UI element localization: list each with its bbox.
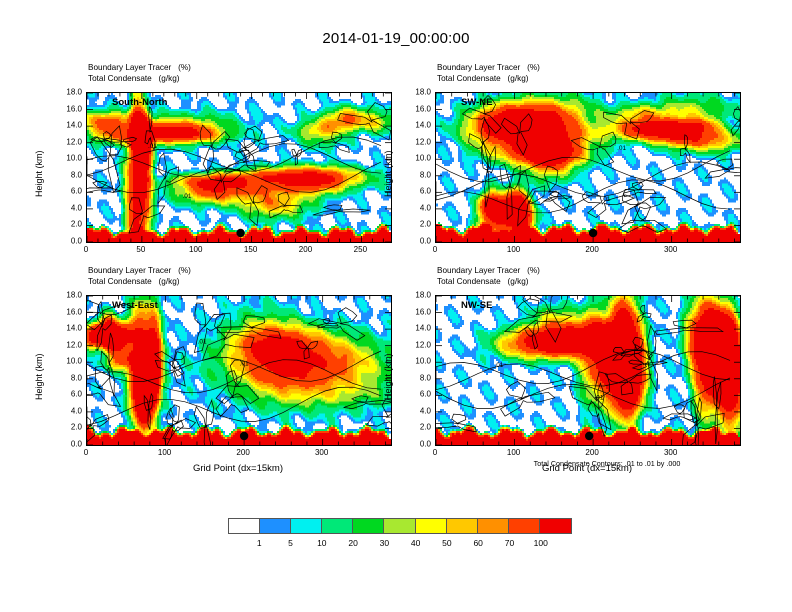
x-tick-label: 100 <box>507 245 520 254</box>
y-tick-label: 6.0 <box>401 390 431 399</box>
colorbar-cell <box>322 519 353 533</box>
panel-label-west-east: West-East <box>112 300 158 311</box>
y-tick-label: 8.0 <box>401 170 431 179</box>
plot-area-west-east[interactable]: .01.01 <box>86 295 392 446</box>
colorbar-tick-label: 50 <box>442 538 451 548</box>
colorbar-tick-label: 100 <box>534 538 548 548</box>
panel-label-south-north: South-North <box>112 97 167 108</box>
y-tick-label: 14.0 <box>52 324 82 333</box>
plot-area-south-north[interactable]: .01.01 <box>86 92 392 243</box>
colorbar-tick-label: 20 <box>348 538 357 548</box>
y-tick-label: 4.0 <box>52 203 82 212</box>
colorbar-cell <box>478 519 509 533</box>
page-title: 2014-01-19_00:00:00 <box>0 30 792 47</box>
y-tick-label: 2.0 <box>401 423 431 432</box>
x-tick-label: 200 <box>299 245 312 254</box>
x-tick-label: 50 <box>136 245 145 254</box>
svg-text:.01: .01 <box>595 394 604 401</box>
y-tick-label: 6.0 <box>401 187 431 196</box>
y-tick-label: 12.0 <box>52 137 82 146</box>
y-axis-label: Height (km) <box>383 150 393 197</box>
header-tracer-line: Boundary Layer Tracer (%) <box>88 266 191 277</box>
y-tick-label: 18.0 <box>401 291 431 300</box>
y-tick-label: 6.0 <box>52 187 82 196</box>
colorbar-cell <box>229 519 260 533</box>
x-tick-label: 200 <box>585 448 598 457</box>
panel-label-nw-se: NW-SE <box>461 300 492 311</box>
y-tick-label: 0.0 <box>401 237 431 246</box>
y-tick-label: 10.0 <box>401 154 431 163</box>
y-tick-label: 0.0 <box>52 237 82 246</box>
y-tick-label: 12.0 <box>401 340 431 349</box>
y-tick-label: 8.0 <box>52 170 82 179</box>
svg-text:.01: .01 <box>494 362 503 369</box>
y-tick-label: 10.0 <box>52 357 82 366</box>
panel-header-south-north: Boundary Layer Tracer (%)Total Condensat… <box>88 63 191 84</box>
y-tick-label: 8.0 <box>401 373 431 382</box>
y-axis-label: Height (km) <box>34 353 44 400</box>
colorbar-tick-label: 30 <box>380 538 389 548</box>
y-tick-label: 14.0 <box>401 324 431 333</box>
panel-header-nw-se: Boundary Layer Tracer (%)Total Condensat… <box>437 266 540 287</box>
contour-interval-note: Total Condensate Contours: .01 to .01 by… <box>534 459 681 468</box>
y-tick-label: 18.0 <box>401 88 431 97</box>
y-tick-label: 2.0 <box>52 423 82 432</box>
panel-label-sw-ne: SW-NE <box>461 97 492 108</box>
x-tick-label: 100 <box>507 448 520 457</box>
colorbar-tick-label: 1 <box>257 538 262 548</box>
svg-text:.01: .01 <box>617 145 626 152</box>
colorbar-tick-label: 40 <box>411 538 420 548</box>
y-tick-label: 14.0 <box>401 121 431 130</box>
y-tick-label: 4.0 <box>401 406 431 415</box>
x-tick-label: 300 <box>664 448 677 457</box>
header-condensate-line: Total Condensate (g/kg) <box>437 277 540 288</box>
colorbar-cell <box>447 519 478 533</box>
panel-header-west-east: Boundary Layer Tracer (%)Total Condensat… <box>88 266 191 287</box>
colorbar-cell <box>260 519 291 533</box>
y-tick-label: 2.0 <box>401 220 431 229</box>
header-tracer-line: Boundary Layer Tracer (%) <box>88 63 191 74</box>
y-tick-label: 4.0 <box>52 406 82 415</box>
colorbar-cell <box>540 519 571 533</box>
header-tracer-line: Boundary Layer Tracer (%) <box>437 266 540 277</box>
plot-area-sw-ne[interactable]: .01.01 <box>435 92 741 243</box>
y-tick-label: 2.0 <box>52 220 82 229</box>
y-tick-label: 0.0 <box>401 440 431 449</box>
y-tick-label: 18.0 <box>52 291 82 300</box>
colorbar-tick-label: 60 <box>473 538 482 548</box>
x-tick-label: 0 <box>84 448 88 457</box>
x-tick-label: 250 <box>354 245 367 254</box>
svg-text:.01: .01 <box>148 143 157 150</box>
y-tick-label: 4.0 <box>401 203 431 212</box>
y-tick-label: 16.0 <box>52 307 82 316</box>
y-tick-label: 12.0 <box>52 340 82 349</box>
y-tick-label: 18.0 <box>52 88 82 97</box>
y-axis-label: Height (km) <box>383 353 393 400</box>
y-tick-label: 16.0 <box>401 104 431 113</box>
x-tick-label: 100 <box>189 245 202 254</box>
colorbar-cell <box>291 519 322 533</box>
colorbar-cell <box>353 519 384 533</box>
y-tick-label: 0.0 <box>52 440 82 449</box>
svg-text:.01: .01 <box>198 339 207 346</box>
colorbar: 1510203040506070100 <box>228 518 572 534</box>
colorbar-cell <box>384 519 415 533</box>
x-tick-label: 150 <box>244 245 257 254</box>
y-tick-label: 12.0 <box>401 137 431 146</box>
colorbar-tick-label: 5 <box>288 538 293 548</box>
x-tick-label: 0 <box>433 245 437 254</box>
panel-header-sw-ne: Boundary Layer Tracer (%)Total Condensat… <box>437 63 540 84</box>
y-tick-label: 14.0 <box>52 121 82 130</box>
y-axis-label: Height (km) <box>34 150 44 197</box>
colorbar-tick-label: 70 <box>505 538 514 548</box>
plot-area-nw-se[interactable]: .01.01 <box>435 295 741 446</box>
svg-text:.01: .01 <box>602 196 611 203</box>
x-tick-label: 100 <box>158 448 171 457</box>
x-tick-label: 300 <box>315 448 328 457</box>
colorbar-cell <box>416 519 447 533</box>
x-tick-label: 0 <box>84 245 88 254</box>
y-tick-label: 10.0 <box>401 357 431 366</box>
colorbar-cells <box>228 518 572 534</box>
y-tick-label: 6.0 <box>52 390 82 399</box>
header-condensate-line: Total Condensate (g/kg) <box>88 74 191 85</box>
colorbar-tick-label: 10 <box>317 538 326 548</box>
svg-text:.01: .01 <box>183 193 192 200</box>
x-tick-label: 200 <box>236 448 249 457</box>
x-tick-label: 300 <box>664 245 677 254</box>
colorbar-cell <box>509 519 540 533</box>
x-tick-label: 200 <box>585 245 598 254</box>
y-tick-label: 16.0 <box>401 307 431 316</box>
svg-text:.01: .01 <box>240 361 249 368</box>
y-tick-label: 10.0 <box>52 154 82 163</box>
y-tick-label: 8.0 <box>52 373 82 382</box>
x-tick-label: 0 <box>433 448 437 457</box>
header-tracer-line: Boundary Layer Tracer (%) <box>437 63 540 74</box>
y-tick-label: 16.0 <box>52 104 82 113</box>
header-condensate-line: Total Condensate (g/kg) <box>437 74 540 85</box>
x-axis-label: Grid Point (dx=15km) <box>193 463 283 474</box>
header-condensate-line: Total Condensate (g/kg) <box>88 277 191 288</box>
